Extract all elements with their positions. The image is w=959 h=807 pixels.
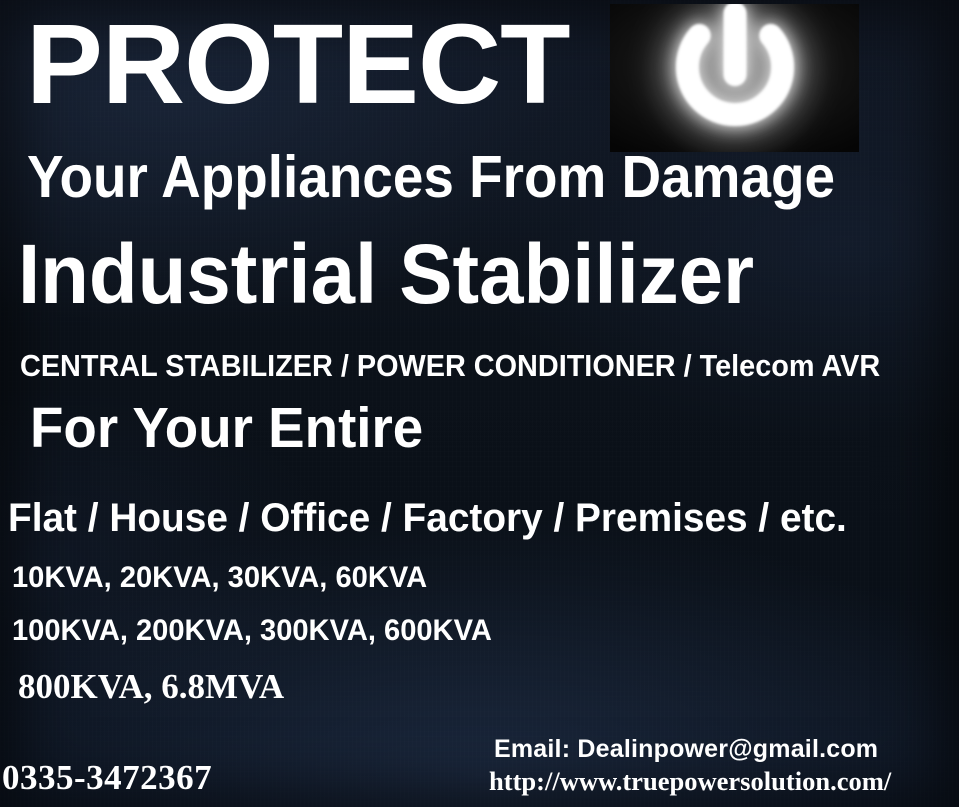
usage-lead: For Your Entire xyxy=(30,400,423,457)
contact-email[interactable]: Email: Dealinpower@gmail.com xyxy=(494,737,878,762)
capacity-line-3: 800KVA, 6.8MVA xyxy=(18,669,284,704)
product-title: Industrial Stabilizer xyxy=(18,232,754,316)
subhead: Your Appliances From Damage xyxy=(27,148,835,207)
usage-places: Flat / House / Office / Factory / Premis… xyxy=(8,498,847,538)
capacity-line-1: 10KVA, 20KVA, 30KVA, 60KVA xyxy=(12,563,427,593)
capacity-line-2: 100KVA, 200KVA, 300KVA, 600KVA xyxy=(12,616,492,646)
product-categories: CENTRAL STABILIZER / POWER CONDITIONER /… xyxy=(20,350,880,381)
power-icon xyxy=(650,4,820,152)
headline: PROTECT xyxy=(26,8,570,121)
power-icon-panel xyxy=(610,4,859,152)
contact-phone[interactable]: 0335-3472367 xyxy=(2,760,212,795)
advertisement-poster: PROTECT Your Appliances From Damage Indu… xyxy=(0,0,959,807)
contact-website[interactable]: http://www.truepowersolution.com/ xyxy=(489,769,891,795)
